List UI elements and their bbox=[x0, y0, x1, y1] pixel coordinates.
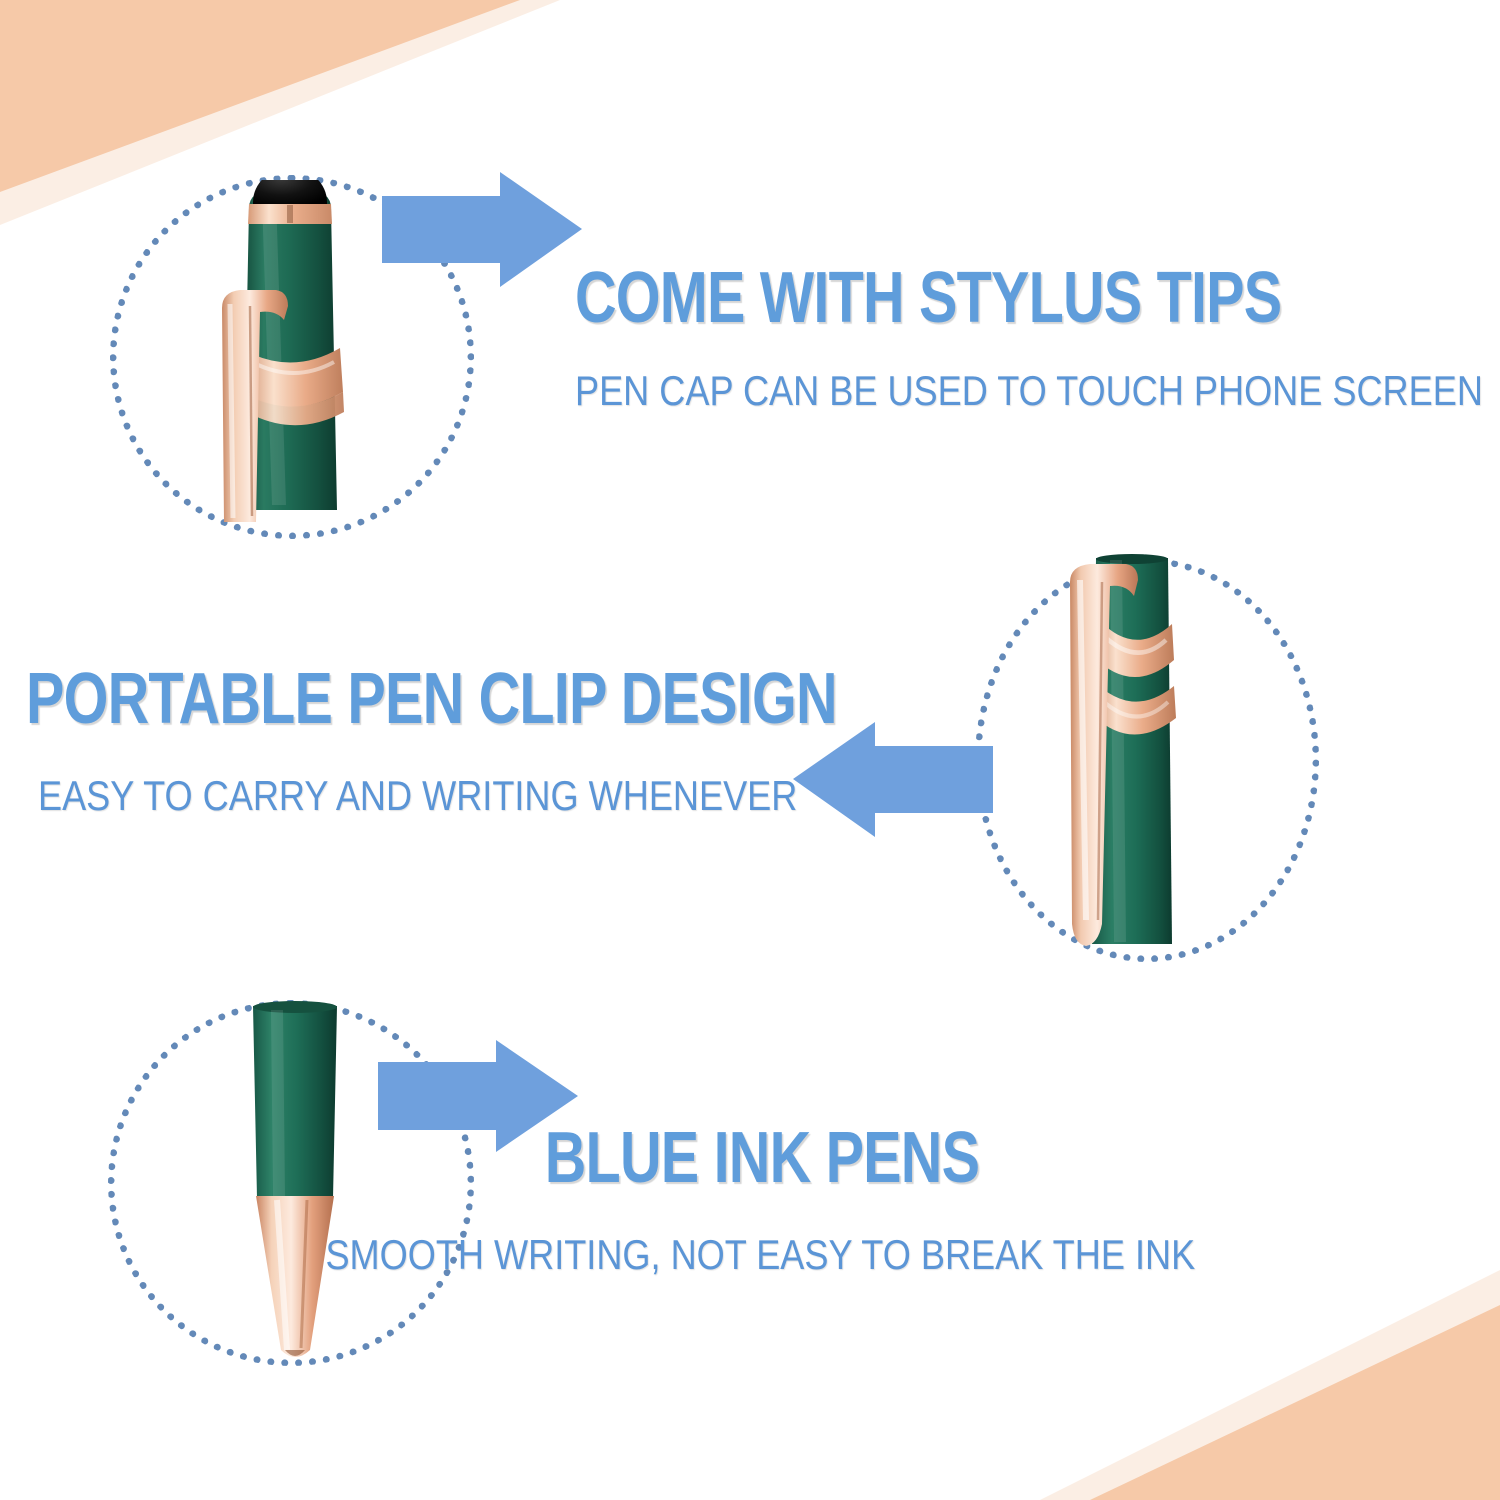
feature-heading-ink: BLUE INK PENS bbox=[162, 1122, 1362, 1194]
text-block-ink: BLUE INK PENS SMOOTH WRITING, NOT EASY T… bbox=[0, 1122, 1500, 1276]
feature-subtitle-ink: SMOOTH WRITING, NOT EASY TO BREAK THE IN… bbox=[115, 1234, 1405, 1276]
infographic-page: COME WITH STYLUS TIPS PEN CAP CAN BE USE… bbox=[0, 0, 1500, 1500]
feature-blue-ink: BLUE INK PENS SMOOTH WRITING, NOT EASY T… bbox=[0, 0, 1500, 1500]
